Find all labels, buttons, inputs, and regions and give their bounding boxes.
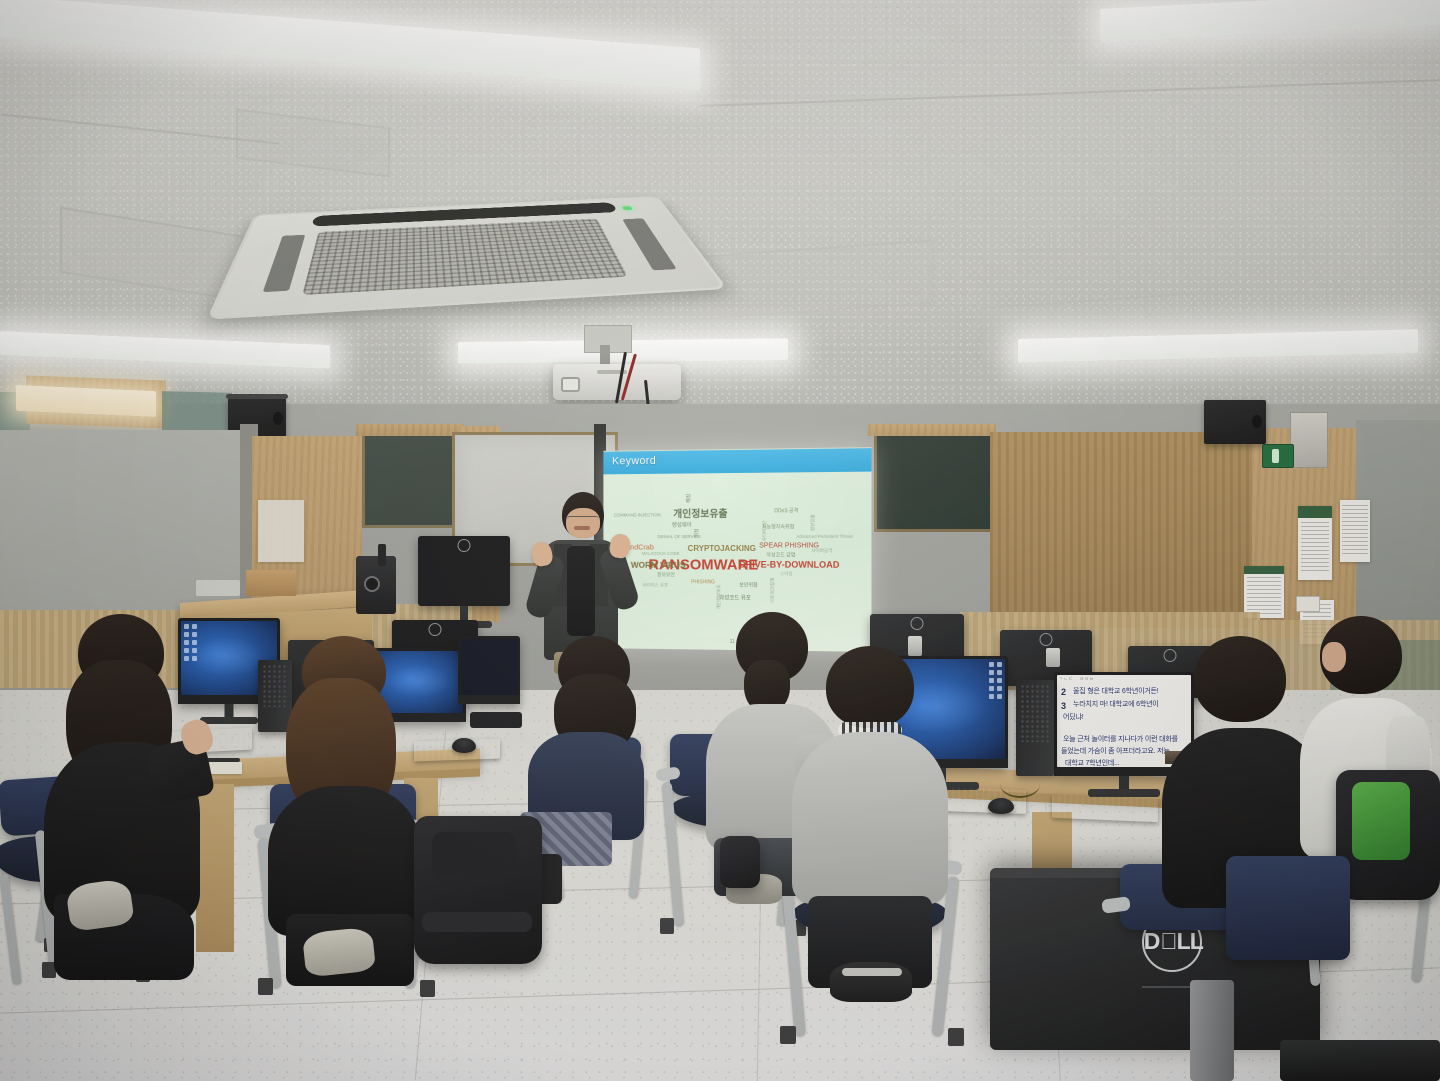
- notice-header: [1298, 506, 1332, 518]
- notice-header: [1244, 566, 1284, 574]
- speaker-bracket: [226, 394, 288, 399]
- dell-logo-icon: [429, 623, 442, 636]
- word-cloud-term: 랜섬웨어: [672, 523, 692, 529]
- chair-foot: [780, 1026, 796, 1044]
- counter-box: [246, 570, 296, 596]
- word-cloud-term: 해킹: [687, 493, 692, 502]
- word-cloud-term: WORM VIRUS: [631, 561, 686, 570]
- word-cloud-term: 정보유출: [811, 514, 816, 531]
- chair-foot: [660, 918, 674, 934]
- keyboard-foreground[interactable]: [1280, 1040, 1440, 1081]
- desktop-icons-right[interactable]: [989, 662, 1002, 699]
- document-number-mark: 3: [1061, 701, 1066, 711]
- blackboard-right: [874, 430, 996, 532]
- board-frame-top: [868, 424, 996, 436]
- pc-tower: [1016, 680, 1054, 776]
- bag-small: [720, 836, 760, 888]
- word-cloud-term: Advanced Persistent Threat: [796, 534, 852, 539]
- wall-notice: [1298, 506, 1332, 580]
- student-head: [1194, 636, 1286, 722]
- backpack-pocket: [432, 832, 516, 876]
- word-cloud-term: 정보보안: [657, 573, 675, 578]
- board-frame-top: [356, 424, 464, 436]
- word-cloud-term: 악성코드 감염: [766, 554, 795, 559]
- notice-text-lines: [1342, 505, 1367, 557]
- student-5: [790, 646, 950, 1026]
- dell-logo-icon: [1040, 633, 1053, 646]
- word-cloud-term: 악성코드 유포: [719, 596, 751, 602]
- blackboard-left: [362, 430, 464, 528]
- student-head: [826, 646, 914, 728]
- document-number-mark: 2: [1061, 687, 1066, 697]
- student-body: [792, 732, 948, 904]
- backpack-strap: [422, 912, 532, 932]
- bag-green: [1352, 782, 1410, 860]
- word-cloud-term: 스미싱: [780, 572, 793, 577]
- notice-text-lines: [1301, 522, 1330, 574]
- ceiling-texture: [0, 0, 1440, 430]
- word-cloud-term: 피싱: [695, 529, 700, 538]
- exit-figure-icon: [1272, 449, 1279, 463]
- ac-grille: [302, 219, 627, 295]
- wall-speaker: [1204, 400, 1266, 444]
- instructor-shirt: [567, 546, 595, 636]
- keyboard[interactable]: [1052, 794, 1158, 822]
- student-1: [30, 614, 210, 964]
- dell-logo-icon: [458, 539, 471, 552]
- wall-notice: [1244, 566, 1284, 618]
- mouse[interactable]: [988, 798, 1014, 814]
- chair-foot: [258, 978, 273, 995]
- light-switch-plate[interactable]: [1296, 596, 1320, 612]
- student-2: [252, 636, 432, 966]
- word-cloud-term: MALICIOUS CODE: [642, 552, 680, 556]
- backpack-left: [414, 816, 542, 964]
- word-cloud-term: 보안위협: [739, 584, 757, 589]
- word-cloud-term: DRIVE-BY-DOWNLOAD: [739, 561, 839, 570]
- chair-foot: [420, 980, 435, 997]
- ceiling: [0, 0, 1440, 430]
- wall-poster-left: [258, 500, 304, 562]
- cork-wall-right: [990, 432, 1258, 628]
- notice-text-lines: [1247, 577, 1281, 613]
- speaker-driver: [273, 412, 283, 425]
- eyeglasses-icon: [567, 516, 599, 522]
- classroom-photo: Keyword RANSOMWAREDRIVE-BY-DOWNLOADCRYPT…: [0, 0, 1440, 1081]
- student-face: [1322, 642, 1346, 672]
- shoe-stripe: [842, 968, 902, 976]
- mouse[interactable]: [452, 738, 476, 753]
- wall-utility-box: [1290, 412, 1328, 468]
- chair-foot: [948, 1028, 964, 1046]
- word-cloud-term: 바이러스 유포: [643, 584, 668, 589]
- slide-header-bar: Keyword: [603, 448, 871, 474]
- chair-back-foreground[interactable]: [1226, 856, 1350, 960]
- student-head: [1320, 616, 1402, 694]
- instructor-face: [566, 508, 600, 538]
- monitor-back-left: [418, 536, 510, 606]
- dell-logo-icon: [911, 617, 924, 630]
- cable: [1000, 770, 1040, 798]
- word-cloud-term: 네트워크침해: [770, 578, 775, 603]
- monitor-stand: [225, 704, 234, 718]
- wall-notice: [1340, 500, 1370, 562]
- document-top-marks: ᄀ ᄂ ᄃ ᄅ ᄆ ᄇ: [1059, 677, 1093, 683]
- ac-vent: [263, 235, 305, 293]
- word-cloud-term: 사이버보안: [762, 521, 767, 542]
- word-cloud-term: 개인정보유출: [673, 511, 727, 521]
- word-cloud-term: CRYPTOJACKING: [688, 545, 756, 553]
- word-cloud-term: PHISHING: [691, 580, 715, 585]
- slide-title: Keyword: [612, 455, 656, 467]
- desk-speaker: [1046, 648, 1060, 667]
- chair-leg: [0, 874, 22, 984]
- student-shoe: [302, 926, 376, 977]
- counter-tray: [196, 580, 240, 596]
- instructor-head: [562, 492, 604, 538]
- ac-status-led: [622, 206, 633, 210]
- word-cloud-term: 사이버공격: [811, 549, 832, 554]
- projector-lens: [561, 377, 580, 392]
- instructor-mouth: [574, 526, 590, 530]
- ac-vent: [622, 218, 676, 270]
- word-cloud-term: DDoS 공격: [774, 509, 798, 514]
- word-cloud-term: 개인정보보호: [717, 584, 721, 609]
- microphone: [378, 544, 386, 566]
- word-cloud-term: SPEAR PHISHING: [759, 542, 819, 549]
- camera-lens-icon: [364, 576, 380, 592]
- emergency-exit-sign: [1262, 444, 1294, 468]
